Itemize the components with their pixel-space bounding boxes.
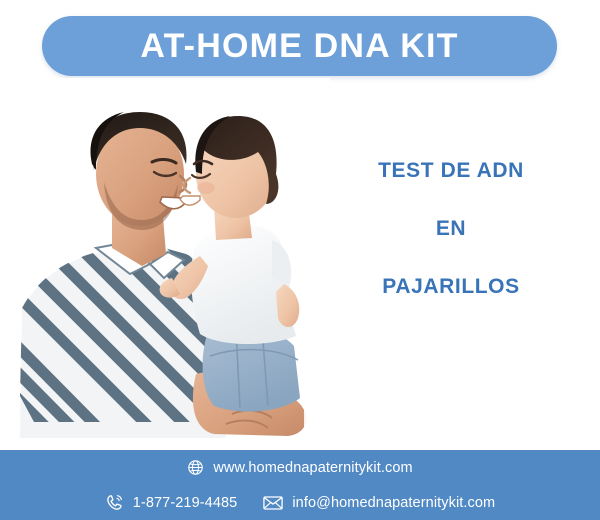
poster-root: AT-HOME DNA KIT [0,0,600,520]
website-text: www.homednapaternitykit.com [213,460,412,476]
phone-icon [105,493,124,512]
footer-row-website: www.homednapaternitykit.com [0,450,600,485]
contact-phone[interactable]: 1-877-219-4485 [105,493,238,512]
envelope-icon [263,495,283,511]
banner-title: AT-HOME DNA KIT [140,29,458,63]
contact-email[interactable]: info@homednapaternitykit.com [263,495,495,511]
globe-icon [187,459,204,476]
headline-line-3: PAJARILLOS [320,276,582,297]
footer-contact-bar: www.homednapaternitykit.com 1-877-219-44… [0,450,600,520]
footer-row-phone-email: 1-877-219-4485 info@homednapaternitykit.… [0,485,600,520]
father-and-child-photo [0,78,330,456]
contact-website[interactable]: www.homednapaternitykit.com [187,459,412,476]
headline-block: TEST DE ADN EN PAJARILLOS [320,160,582,297]
email-text: info@homednapaternitykit.com [292,495,495,511]
phone-text: 1-877-219-4485 [133,495,238,511]
headline-line-2: EN [320,218,582,239]
header-banner: AT-HOME DNA KIT [42,16,557,76]
father-and-child-illustration [0,78,330,456]
headline-line-1: TEST DE ADN [320,160,582,181]
